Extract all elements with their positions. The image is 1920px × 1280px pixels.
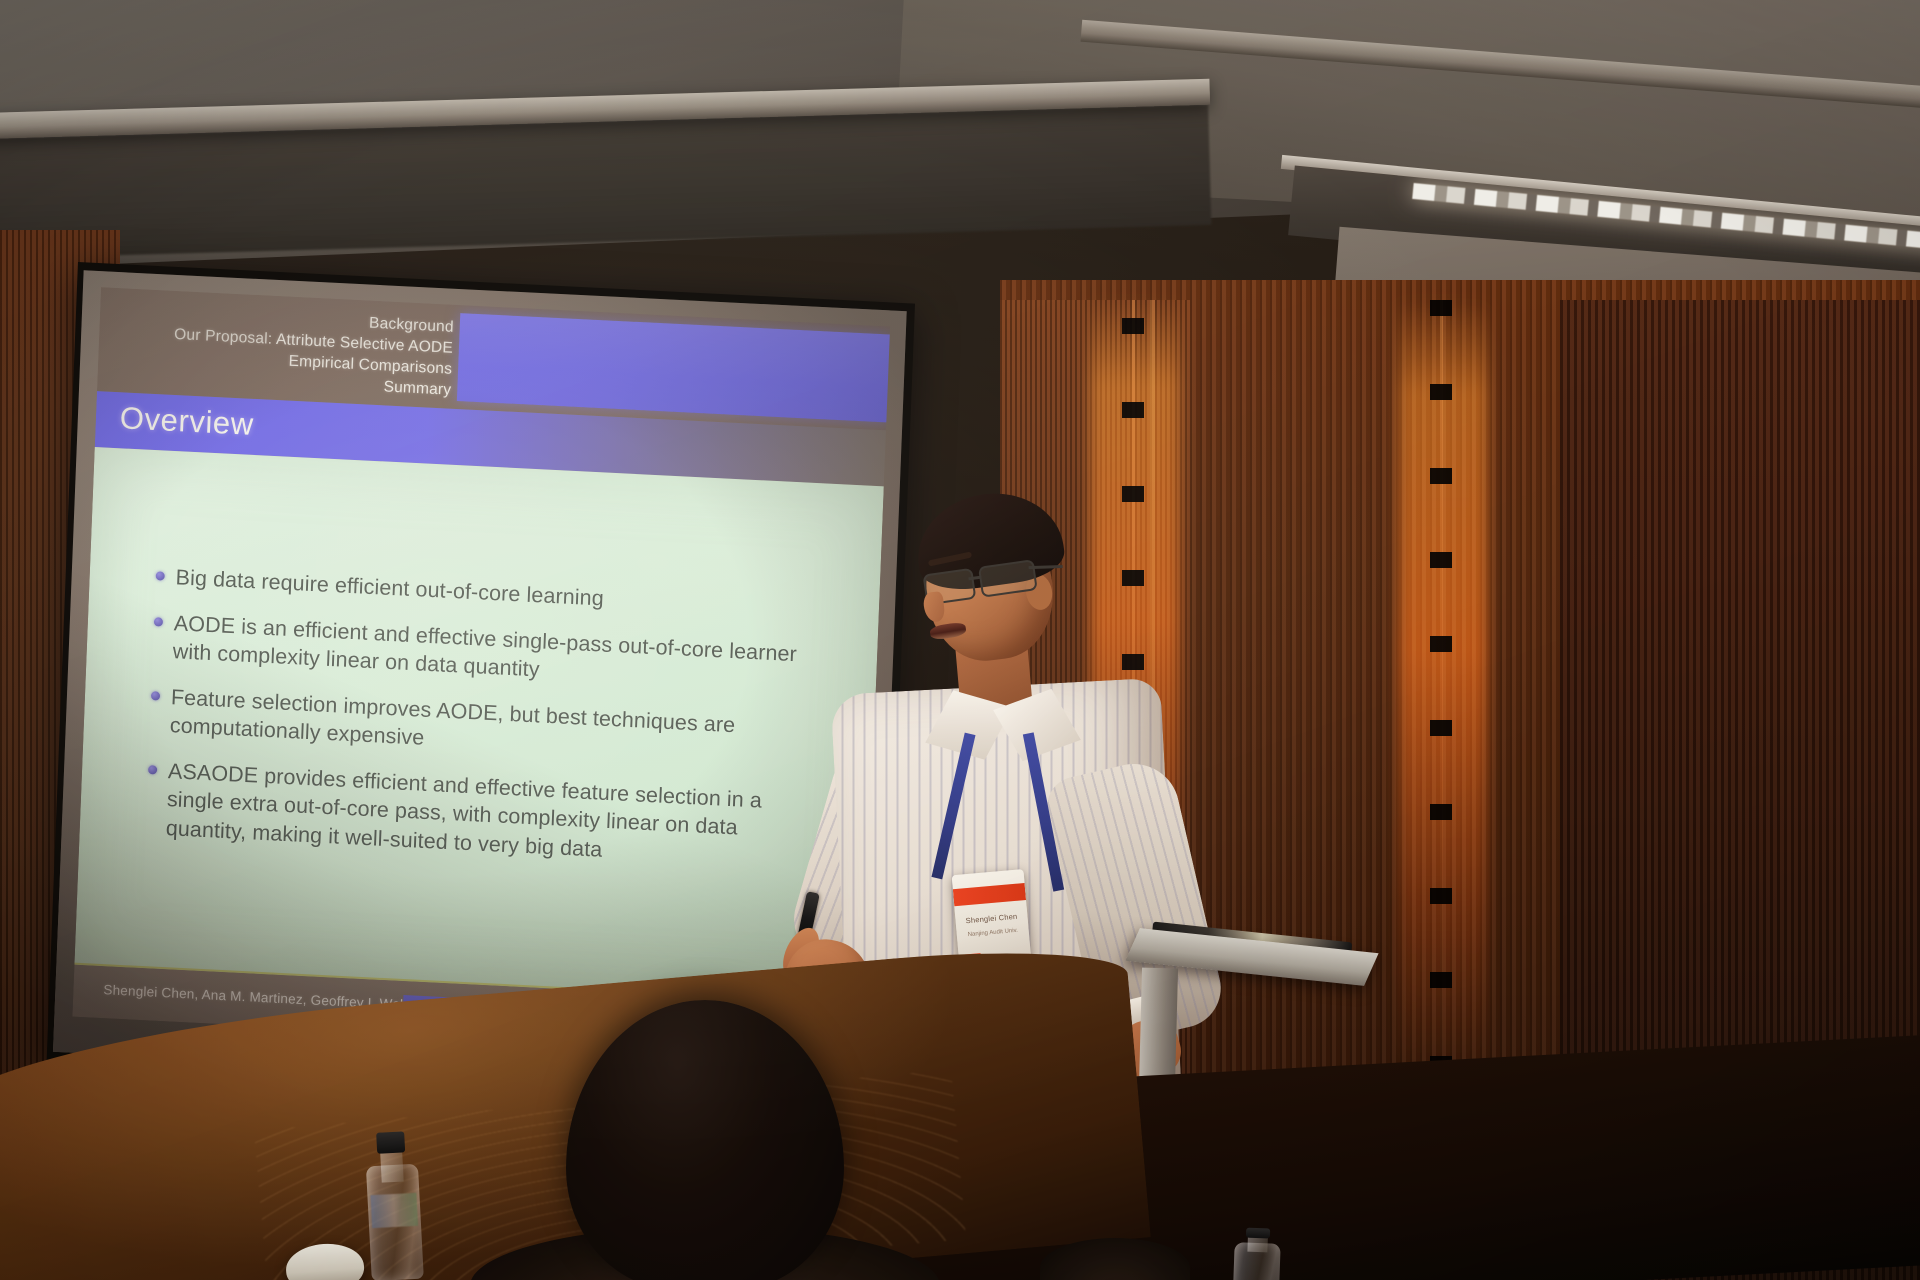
list-item: ASAODE provides efficient and effective … <box>145 756 796 874</box>
water-bottle-lectern <box>1233 1227 1281 1280</box>
bottle-neck <box>380 1149 405 1183</box>
bullet-dot-icon <box>148 765 157 774</box>
projected-slide: Background Our Proposal: Attribute Selec… <box>72 287 890 1056</box>
bullet-text: ASAODE provides efficient and effective … <box>165 757 796 874</box>
nav-prefix-our-proposal: Our Proposal: <box>174 326 273 348</box>
badge-affiliation: Nanjing Audit Univ. <box>957 927 1029 939</box>
slide-bullet-list: Big data require efficient out-of-core l… <box>145 562 804 890</box>
bullet-dot-icon <box>151 691 160 700</box>
bottle-label <box>371 1193 418 1228</box>
presentation-photo-scene: Background Our Proposal: Attribute Selec… <box>0 0 1920 1280</box>
bullet-text: Big data require efficient out-of-core l… <box>175 563 604 613</box>
slide-body: Big data require efficient out-of-core l… <box>74 447 883 1004</box>
nav-label-summary: Summary <box>383 378 451 398</box>
bullet-text: AODE is an efficient and effective singl… <box>172 609 801 697</box>
badge-name: Shenglei Chen <box>955 911 1028 926</box>
glasses-temple <box>1029 565 1063 569</box>
nav-label-background: Background <box>369 315 454 336</box>
slide-section-nav: Background Our Proposal: Attribute Selec… <box>172 303 454 401</box>
water-bottle-foreground <box>364 1131 424 1280</box>
bottle-cap <box>377 1131 405 1153</box>
list-item: Feature selection improves AODE, but bes… <box>149 682 798 771</box>
bullet-dot-icon <box>154 617 163 626</box>
bottle-cap <box>1246 1228 1270 1239</box>
bottle-neck <box>1247 1236 1268 1252</box>
list-item: AODE is an efficient and effective singl… <box>152 608 801 697</box>
presenter-nose <box>922 591 945 623</box>
bullet-text: Feature selection improves AODE, but bes… <box>169 683 798 771</box>
badge-accent-band <box>953 883 1026 906</box>
slide-title: Overview <box>119 400 254 443</box>
bullet-dot-icon <box>156 571 165 580</box>
